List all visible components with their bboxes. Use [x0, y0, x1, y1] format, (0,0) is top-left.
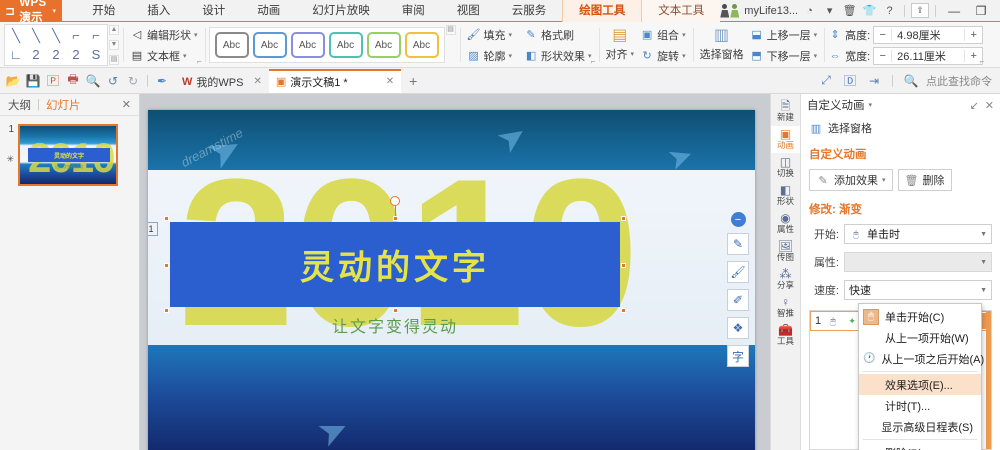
tab-review[interactable]: 审阅 [386, 0, 441, 22]
slide-surface[interactable]: 2010 ➤ ➤ ➤ ➤ dreamstime 灵动的文字 让文字变得灵动 1 [148, 110, 755, 450]
command-search-input[interactable]: 点此查找命令 [926, 73, 992, 89]
rotate-button[interactable]: ↻ 旋转 ▾ [637, 47, 689, 65]
collapse-toolbar-button[interactable]: − [731, 212, 746, 227]
shape-connector2-icon[interactable]: 2 [26, 45, 46, 64]
divider [863, 371, 977, 372]
align-big-icon: ▤ [613, 28, 627, 42]
mouse-click-icon: 🖱 [849, 227, 863, 241]
delete-effect-button[interactable]: 🗑 删除 [898, 169, 952, 191]
undo-icon[interactable]: ↺ [104, 72, 122, 90]
sidebar-item-animation[interactable]: ▣ 动画 [771, 126, 801, 153]
width-label: 宽度: [845, 48, 870, 64]
select-pane-big-icon: ▥ [715, 28, 729, 42]
divider [892, 75, 893, 87]
outline-color-button[interactable]: ✐ [727, 289, 749, 311]
shape-style-1[interactable]: Abc [215, 32, 249, 58]
divider [904, 5, 905, 17]
sidebar-item-label: 形状 [777, 196, 794, 206]
tab-slides[interactable]: 幻灯片 [46, 97, 81, 113]
divider [935, 5, 936, 17]
title-text-box[interactable]: 灵动的文字 [170, 222, 620, 307]
right-vertical-sidebar: 🗎 新建 ▣ 动画 ◫ 切换 ◧ 形状 ◉ 属性 🖼 传图 ⁂ 分享 ♀ 智 [770, 94, 800, 450]
fill-color-button[interactable]: 🖌 [727, 261, 749, 283]
modify-value: 渐变 [839, 204, 862, 216]
modify-label: 修改: [809, 204, 836, 216]
speed-label: 速度: [809, 282, 839, 298]
chevron-down-icon: ▼ [980, 259, 987, 266]
tab-cloud-service[interactable]: 云服务 [496, 0, 563, 22]
tab-animation[interactable]: 动画 [241, 0, 296, 22]
animation-pane-header: 自定义动画 ▾ ↙ ✕ [801, 94, 1000, 116]
menu-item-label: 效果选项(E)... [885, 377, 953, 393]
styles-scroll[interactable]: ▤ [446, 25, 456, 65]
modify-section-title: 修改: 渐变 [801, 195, 1000, 220]
chevron-down-icon[interactable]: ▾ [821, 2, 838, 19]
document-tab-bar-right: ⤢ 🄳 ⇥ 🔍 点此查找命令 [817, 72, 1000, 90]
arrange-layer-button[interactable]: ❖ [727, 317, 749, 339]
sidebar-item-label: 新建 [777, 112, 794, 122]
sidebar-item-share[interactable]: ⁂ 分享 [771, 266, 801, 293]
avatar[interactable] [720, 4, 739, 18]
title-bar: ⊐ WPS 演示 ▾ 开始 插入 设计 动画 幻灯片放映 审阅 视图 云服务 绘… [0, 0, 1000, 22]
title-bar-right: myLife13... ◔ ▾ 🗑 👕 ? ⇪ — ❐ ✕ [720, 0, 1000, 21]
mouse-click-icon: 🖱 [863, 309, 879, 325]
chevron-down-icon[interactable]: ▾ [509, 31, 513, 39]
property-select[interactable]: ▼ [844, 252, 992, 272]
shape-icon: ◧ [771, 185, 801, 196]
menu-item-show-advanced-timeline[interactable]: 显示高级日程表(S) [859, 416, 981, 437]
shape-connector1-icon[interactable]: ∟ [6, 45, 26, 64]
sidebar-item-properties[interactable]: ◉ 属性 [771, 210, 801, 237]
tab-view[interactable]: 视图 [441, 0, 496, 22]
select-pane-label: 选择窗格 [700, 46, 744, 62]
animation-icon: ▣ [771, 129, 801, 140]
thumbnail-subtitle: 让文字变得灵动 [28, 164, 110, 170]
pencil-icon: ✎ [816, 173, 830, 187]
chevron-down-icon[interactable]: ▼ [980, 231, 987, 238]
share-box-icon[interactable]: ⇪ [911, 3, 929, 18]
edit-shape-button[interactable]: ✎ [727, 233, 749, 255]
start-value: 单击时 [867, 226, 900, 242]
tab-insert[interactable]: 插入 [131, 0, 186, 22]
sidebar-item-label: 智推 [777, 308, 794, 318]
fill-label: 填充 [484, 27, 506, 43]
ribbon-tab-bar: 开始 插入 设计 动画 幻灯片放映 审阅 视图 云服务 绘图工具 文本工具 [76, 0, 720, 21]
trash-icon: 🗑 [905, 173, 919, 187]
text-box-button[interactable]: ▤ 文本框 ▾ [127, 47, 201, 65]
slides-pane-header: 大纲 | 幻灯片 ✕ [0, 94, 139, 116]
tab-text-tools[interactable]: 文本工具 [642, 0, 720, 22]
document-tab-bar: 📂 💾 🄿 🖶 🔍 ↺ ↻ ✒ W 我的WPS ✕ ▣ 演示文稿1 * ✕ + … [0, 68, 1000, 94]
select-pane-label: 选择窗格 [828, 120, 872, 136]
shape-elbow-icon[interactable]: ⌐ [66, 26, 86, 45]
sidebar-item-label: 动画 [777, 140, 794, 150]
format-brush-icon: ✎ [524, 28, 538, 42]
export-pdf-icon[interactable]: 🄿 [44, 72, 62, 90]
ribbon-toggle-icon[interactable]: ⇥ [865, 72, 883, 90]
menu-item-label: 单击开始(C) [885, 309, 944, 325]
height-row: ⇕ 高度: − 4.98厘米 + [828, 26, 983, 44]
shape-connector4-icon[interactable]: 2 [66, 45, 86, 64]
animation-actions-row: ✎ 添加效果 ▾ 🗑 删除 [801, 165, 1000, 195]
blank-icon [863, 445, 879, 450]
slide-thumbnail-1[interactable]: 2010 灵动的文字 让文字变得灵动 [18, 124, 118, 186]
properties-icon: ◉ [771, 213, 801, 224]
ribbon-group-order: ▥ 选择窗格 ⬓ 上移一层 ▾ ⬒ 下移一层 ▾ [693, 22, 825, 68]
document-tab-presentation1[interactable]: ▣ 演示文稿1 * ✕ [269, 69, 401, 93]
blank-icon [863, 330, 879, 346]
height-label: 高度: [845, 27, 870, 43]
width-stepper[interactable]: − 26.11厘米 + [873, 47, 983, 65]
quick-access-toolbar: 📂 💾 🄿 🖶 🔍 ↺ ↻ ✒ [0, 72, 175, 90]
sync-icon[interactable]: ◔ [801, 2, 818, 19]
shape-effects-button[interactable]: ◧ 形状效果 ▾ [521, 47, 595, 65]
menu-item-start-on-click[interactable]: 🖱 单击开始(C) [859, 306, 981, 327]
text-box-label: 文本框 [147, 48, 180, 64]
wps-presentation-window: ⊐ WPS 演示 ▾ 开始 插入 设计 动画 幻灯片放映 审阅 视图 云服务 绘… [0, 0, 1000, 450]
slide-thumbnail-row: 1 ✳ 2010 灵动的文字 让文字变得灵动 [0, 116, 139, 186]
menu-item-effect-options[interactable]: 效果选项(E)... [859, 374, 981, 395]
divider: | [37, 99, 40, 111]
send-backward-button[interactable]: ⬒ 下移一层 ▾ [747, 47, 821, 65]
ribbon-group-edit: ◁ 编辑形状 ▾ ▤ 文本框 ▾ ⌐ [123, 22, 205, 68]
slide-number-label: 1 [4, 124, 18, 136]
width-value[interactable]: 26.11厘米 [892, 48, 964, 64]
add-effect-label: 添加效果 [834, 172, 878, 188]
shape-effects-label: 形状效果 [541, 48, 585, 64]
menu-item-remove[interactable]: 删除(R) [859, 442, 981, 450]
sidebar-item-label: 切换 [777, 168, 794, 178]
group-label: 组合 [657, 27, 679, 43]
width-row: ⇔ 宽度: − 26.11厘米 + [828, 47, 983, 65]
dialog-launcher-icon[interactable]: ⌐ [979, 57, 984, 66]
shape-style-5[interactable]: Abc [367, 32, 401, 58]
align-button[interactable]: 对齐 ▾ [603, 45, 638, 63]
edit-shape-button[interactable]: ◁ 编辑形状 ▾ [127, 26, 201, 44]
recommend-icon: ♀ [771, 297, 801, 308]
restore-window-icon[interactable]: ⤢ [817, 72, 835, 90]
blank-icon [863, 377, 879, 393]
shape-style-3[interactable]: Abc [291, 32, 325, 58]
sidebar-item-shape[interactable]: ◧ 形状 [771, 182, 801, 209]
sidebar-item-tools[interactable]: 🧰 工具 [771, 322, 801, 349]
slide-title-text: 灵动的文字 [300, 240, 490, 289]
new-file-icon: 🗎 [771, 101, 801, 112]
transition-icon: ◫ [771, 157, 801, 168]
slide-editor-canvas[interactable]: 2010 ➤ ➤ ➤ ➤ dreamstime 灵动的文字 让文字变得灵动 1 [140, 94, 830, 450]
effect-order-number: 1 [815, 315, 821, 327]
gallery-more-icon[interactable]: ▤ [109, 55, 119, 65]
shape-arrow-icon[interactable]: ╲ [26, 26, 46, 45]
start-label: 开始: [809, 226, 839, 242]
format-painter-icon[interactable]: ✒ [153, 72, 171, 90]
close-icon[interactable]: ✕ [253, 76, 261, 87]
format-brush-button[interactable]: ✎ 格式刷 [521, 26, 577, 44]
sidebar-item-new[interactable]: 🗎 新建 [771, 98, 801, 125]
bring-forward-button[interactable]: ⬓ 上移一层 ▾ [747, 26, 821, 44]
floating-shape-toolbar: − ✎ 🖌 ✐ ❖ 字 [727, 212, 749, 367]
bring-forward-label: 上移一层 [767, 27, 811, 43]
outline-label: 轮廓 [484, 48, 506, 64]
chevron-down-icon[interactable]: ▾ [682, 52, 686, 60]
close-button[interactable]: ✕ [996, 1, 1000, 21]
chevron-down-icon[interactable]: ▾ [814, 31, 818, 39]
ribbon-group-shapes: ╲ ╲ ╲ ⌐ ⌐ ∟ 2 2 2 S ▲ ▼ ▤ [0, 22, 123, 68]
wps-logo[interactable]: ⊐ WPS 演示 ▾ [0, 0, 62, 22]
shape-style-4[interactable]: Abc [329, 32, 363, 58]
speed-value: 快速 [849, 282, 871, 298]
toolbox-icon: 🧰 [771, 325, 801, 336]
ribbon-group-format: 🖌 填充 ▾ ✎ 格式刷 ▨ 轮廓 ▾ [460, 22, 599, 68]
slide-subtitle-text[interactable]: 让文字变得灵动 [170, 313, 620, 337]
shape-line-icon[interactable]: ╲ [6, 26, 26, 45]
width-icon: ⇔ [828, 49, 842, 63]
group-button[interactable]: ▣ 组合 ▾ [637, 26, 689, 44]
collapse-pane-button[interactable]: ↙ [970, 99, 979, 112]
trash-icon[interactable]: 🗑 [841, 2, 858, 19]
align-label: 对齐 [606, 46, 628, 62]
shape-connector3-icon[interactable]: 2 [46, 45, 66, 64]
dialog-launcher-icon[interactable]: ⌐ [591, 57, 596, 66]
backstage-icon[interactable]: 🄳 [841, 72, 859, 90]
chevron-down-icon[interactable]: ▾ [194, 31, 198, 39]
send-backward-icon: ⬒ [750, 49, 764, 63]
bring-forward-icon: ⬓ [750, 28, 764, 42]
menu-item-timing[interactable]: 计时(T)... [859, 395, 981, 416]
sidebar-item-recommend[interactable]: ♀ 智推 [771, 294, 801, 321]
menu-item-start-after-previous[interactable]: 🕐 从上一项之后开始(A) [859, 348, 981, 369]
open-icon[interactable]: 📂 [4, 72, 22, 90]
outline-icon: ▨ [467, 49, 481, 63]
sidebar-item-transition[interactable]: ◫ 切换 [771, 154, 801, 181]
print-icon[interactable]: 🖶 [64, 72, 82, 90]
animation-pane-title: 自定义动画 [807, 97, 865, 113]
shape-style-2[interactable]: Abc [253, 32, 287, 58]
tab-slideshow[interactable]: 幻灯片放映 [296, 0, 386, 22]
width-decrease-button[interactable]: − [874, 50, 892, 62]
text-replace-button[interactable]: 字 [727, 345, 749, 367]
edit-shape-icon: ◁ [130, 28, 144, 42]
clock-icon: 🕐 [863, 351, 875, 367]
rotate-icon: ↻ [640, 49, 654, 63]
sidebar-item-upload-image[interactable]: 🖼 传图 [771, 238, 801, 265]
gallery-scroll-up-icon[interactable]: ▲ [109, 25, 119, 35]
delete-effect-label: 删除 [923, 172, 945, 188]
sidebar-item-label: 属性 [777, 224, 794, 234]
gallery-scroll[interactable]: ▲ ▼ ▤ [109, 25, 119, 65]
chevron-down-icon[interactable]: ▾ [631, 50, 635, 58]
height-stepper[interactable]: − 4.98厘米 + [873, 26, 983, 44]
wps-w-icon: W [182, 76, 192, 88]
start-select[interactable]: 🖱 单击时 ▼ [844, 224, 992, 244]
animation-star-icon: ✳ [4, 154, 18, 165]
shapes-gallery[interactable]: ╲ ╲ ╲ ⌐ ⌐ ∟ 2 2 2 S [4, 24, 108, 66]
tab-drawing-tools[interactable]: 绘图工具 [562, 0, 642, 22]
ribbon: ╲ ╲ ╲ ⌐ ⌐ ∟ 2 2 2 S ▲ ▼ ▤ ◁ 编辑形状 [0, 22, 1000, 68]
restore-button[interactable]: ❐ [969, 1, 993, 21]
sidebar-item-label: 工具 [777, 336, 794, 346]
start-row: 开始: 🖱 单击时 ▼ [801, 220, 1000, 248]
fill-icon: 🖌 [467, 28, 481, 42]
chevron-down-icon[interactable]: ▾ [52, 7, 56, 15]
shape-double-arrow-icon[interactable]: ╲ [46, 26, 66, 45]
format-brush-label: 格式刷 [541, 27, 574, 43]
tab-outline[interactable]: 大纲 [8, 97, 31, 113]
redo-icon[interactable]: ↻ [124, 72, 142, 90]
ribbon-group-shape-styles: Abc Abc Abc Abc Abc Abc ▤ [205, 22, 460, 68]
shape-effects-icon: ◧ [524, 49, 538, 63]
new-document-button[interactable]: + [401, 73, 425, 89]
blank-icon [863, 398, 879, 414]
shape-style-6[interactable]: Abc [405, 32, 439, 58]
height-icon: ⇕ [828, 28, 842, 42]
speed-row: 速度: 快速 ▼ [801, 276, 1000, 304]
gallery-scroll-down-icon[interactable]: ▼ [109, 40, 119, 50]
list-scrollbar[interactable] [986, 311, 991, 449]
shape-elbow-arrow-icon[interactable]: ⌐ [86, 26, 106, 45]
chevron-down-icon[interactable]: ▼ [980, 287, 987, 294]
dialog-launcher-icon[interactable]: ⌐ [197, 57, 202, 66]
slides-pane: 大纲 | 幻灯片 ✕ 1 ✳ 2010 灵动的文字 让文字变得灵动 [0, 94, 140, 450]
close-pane-button[interactable]: ✕ [122, 98, 131, 111]
outline-button[interactable]: ▨ 轮廓 ▾ [464, 47, 516, 65]
styles-more-icon[interactable]: ▤ [446, 25, 456, 35]
property-row: 属性: ▼ [801, 248, 1000, 276]
chevron-down-icon[interactable]: ▾ [682, 31, 686, 39]
menu-item-start-with-previous[interactable]: 从上一项开始(W) [859, 327, 981, 348]
group-icon: ▣ [640, 28, 654, 42]
edit-shape-label: 编辑形状 [147, 27, 191, 43]
property-label: 属性: [809, 254, 839, 270]
fill-button[interactable]: 🖌 填充 ▾ [464, 26, 516, 44]
height-decrease-button[interactable]: − [874, 29, 892, 41]
effect-context-menu: 🖱 单击开始(C) 从上一项开始(W) 🕐 从上一项之后开始(A) 效果选项(E… [858, 303, 982, 450]
sidebar-item-label: 传图 [777, 252, 794, 262]
custom-animation-section-title: 自定义动画 [801, 140, 1000, 165]
select-pane-icon: ▥ [809, 121, 823, 135]
search-icon[interactable]: 🔍 [902, 72, 920, 90]
chevron-down-icon[interactable]: ▾ [869, 101, 873, 109]
shape-curve-icon[interactable]: S [86, 45, 106, 64]
minimize-button[interactable]: — [942, 1, 966, 21]
menu-item-label: 计时(T)... [885, 398, 930, 414]
skin-icon[interactable]: 👕 [861, 2, 878, 19]
print-preview-icon[interactable]: 🔍 [84, 72, 102, 90]
select-pane-row[interactable]: ▥ 选择窗格 [801, 116, 1000, 140]
sidebar-item-label: 分享 [777, 280, 794, 290]
mouse-click-icon: 🖱 [826, 314, 840, 328]
divider [147, 75, 148, 87]
speed-select[interactable]: 快速 ▼ [844, 280, 992, 300]
rotate-label: 旋转 [657, 48, 679, 64]
add-effect-button[interactable]: ✎ 添加效果 ▾ [809, 169, 893, 191]
menu-item-label: 删除(R) [885, 445, 922, 450]
save-icon[interactable]: 💾 [24, 72, 42, 90]
ribbon-group-arrange: ▤ 对齐 ▾ ▣ 组合 ▾ ↻ 旋转 ▾ [599, 22, 693, 68]
image-upload-icon: 🖼 [771, 241, 801, 252]
divider [863, 439, 977, 440]
share-icon: ⁂ [771, 269, 801, 280]
height-value[interactable]: 4.98厘米 [892, 27, 964, 43]
help-icon[interactable]: ? [881, 2, 898, 19]
document-tab-label: 我的WPS [196, 74, 243, 90]
menu-item-label: 从上一项开始(W) [885, 330, 969, 346]
blank-icon [863, 419, 875, 435]
chevron-down-icon[interactable]: ▾ [509, 52, 513, 60]
close-icon[interactable]: ✕ [386, 76, 394, 87]
select-pane-button[interactable]: 选择窗格 [697, 45, 747, 63]
document-tab-mywps[interactable]: W 我的WPS ✕ [175, 69, 269, 93]
height-increase-button[interactable]: + [964, 29, 982, 41]
document-tab-label: 演示文稿1 * [290, 74, 347, 90]
menu-item-label: 从上一项之后开始(A) [881, 351, 984, 367]
close-pane-button[interactable]: ✕ [985, 99, 994, 112]
user-name-label[interactable]: myLife13... [744, 5, 798, 17]
thumbnail-title: 灵动的文字 [54, 151, 84, 160]
chevron-down-icon[interactable]: ▾ [183, 52, 187, 60]
thumbnail-title-box: 灵动的文字 [28, 148, 110, 162]
text-box-icon: ▤ [130, 49, 144, 63]
presentation-file-icon: ▣ [276, 75, 286, 88]
menu-item-label: 显示高级日程表(S) [881, 419, 973, 435]
chevron-down-icon[interactable]: ▾ [814, 52, 818, 60]
shape-styles-gallery: Abc Abc Abc Abc Abc Abc [209, 27, 445, 63]
send-backward-label: 下移一层 [767, 48, 811, 64]
tab-design[interactable]: 设计 [186, 0, 241, 22]
chevron-down-icon[interactable]: ▾ [882, 176, 886, 184]
tab-start[interactable]: 开始 [76, 0, 131, 22]
ribbon-group-size: ⇕ 高度: − 4.98厘米 + ⇔ 宽度: − 26.11厘米 + [824, 22, 987, 68]
wps-logo-icon: ⊐ [5, 4, 15, 18]
